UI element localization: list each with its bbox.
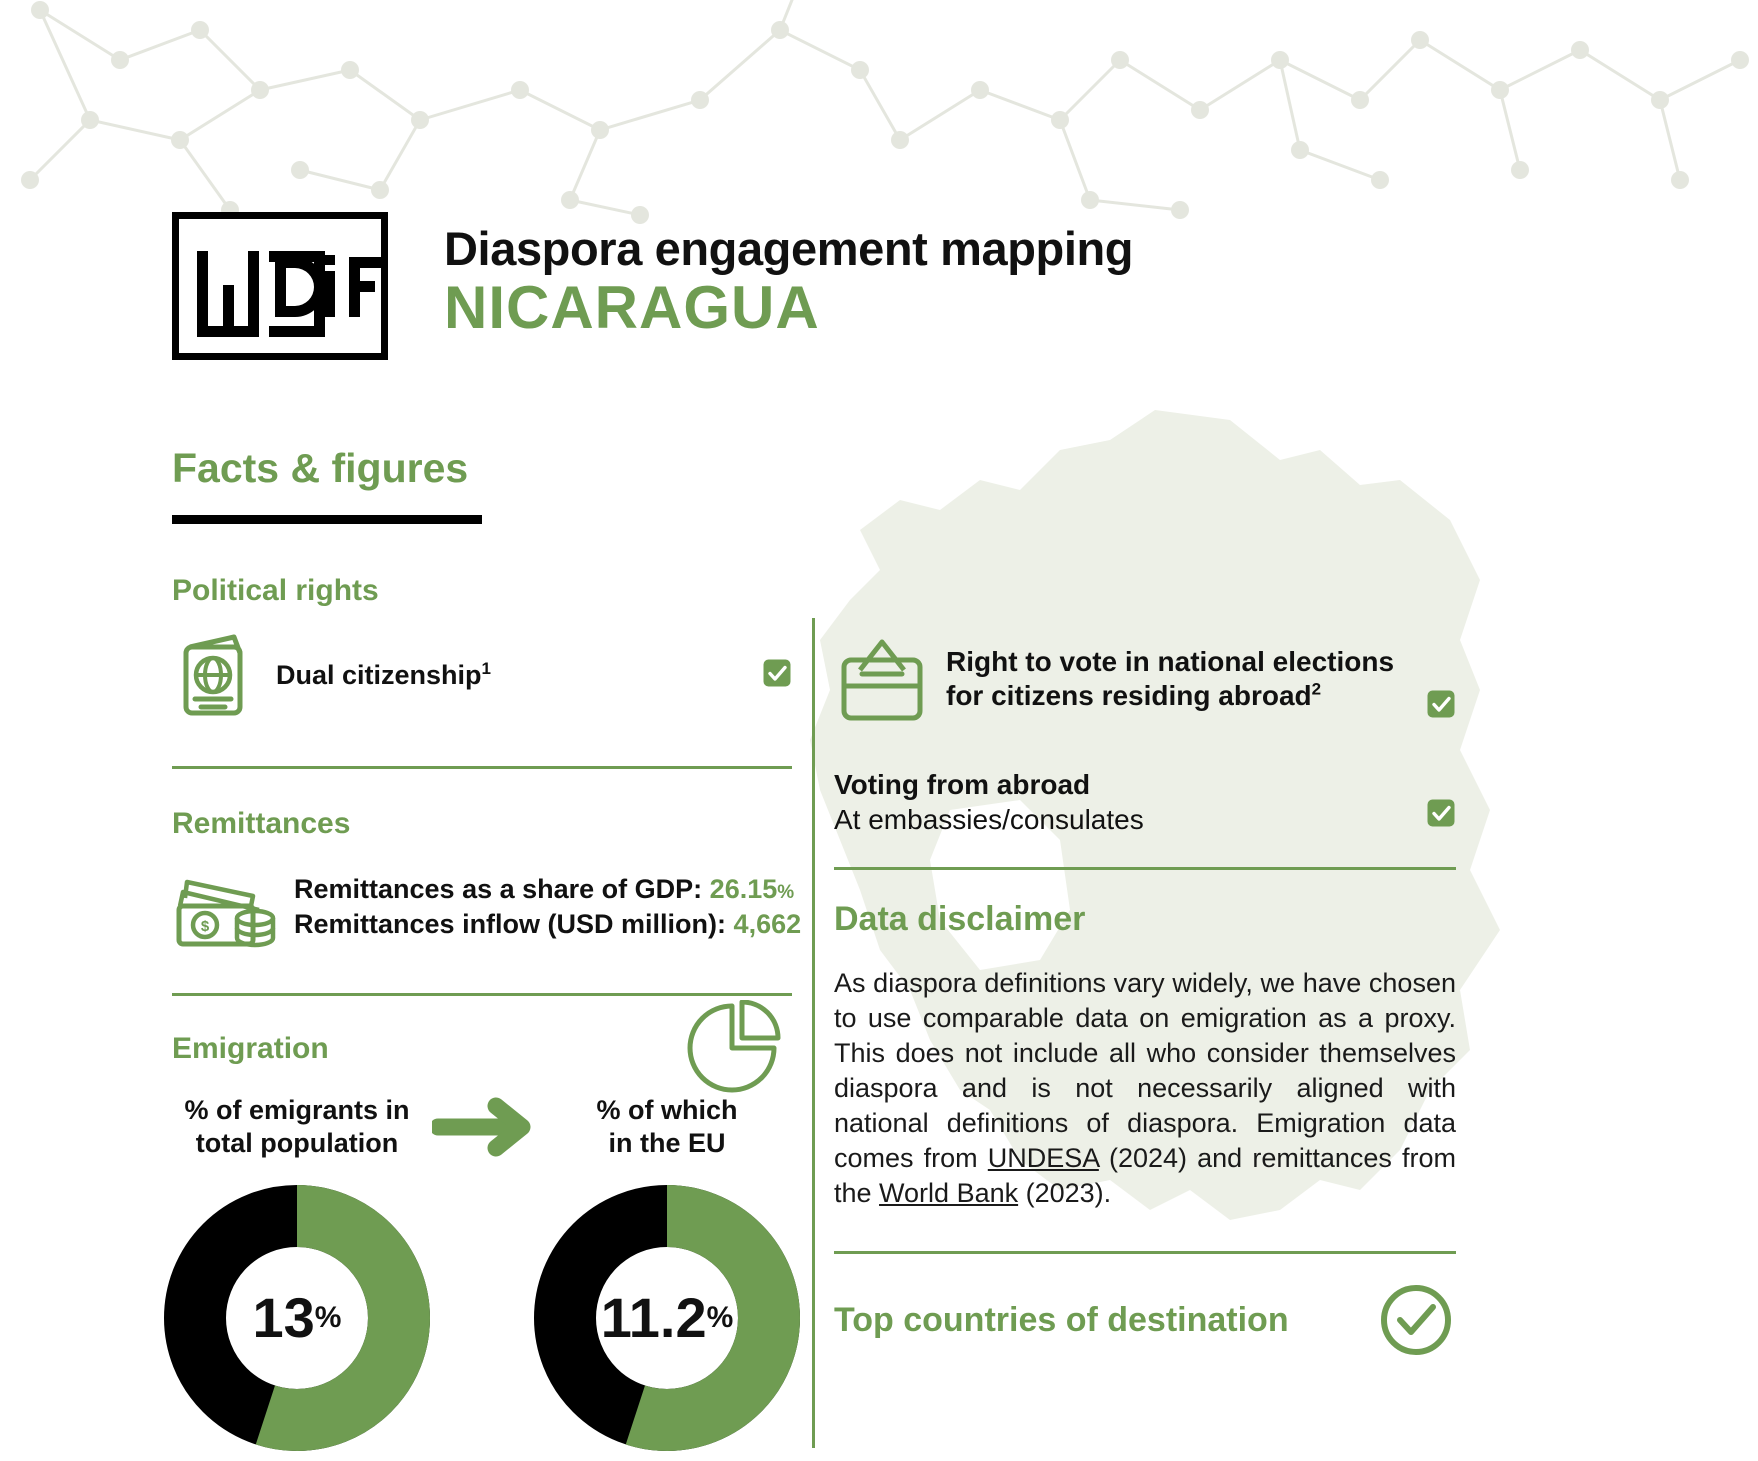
emigration-caption-left-line2: total population (172, 1127, 422, 1160)
left-column: Facts & figures Political rights (172, 448, 792, 1452)
infographic-page: Diaspora engagement mapping NICARAGUA Fa… (0, 0, 1758, 1461)
disclaimer-source-link[interactable]: World Bank (879, 1178, 1018, 1208)
voting-from-abroad-text: Voting from abroad At embassies/consulat… (834, 768, 1426, 837)
column-divider (812, 618, 815, 1448)
facts-figures-heading: Facts & figures (172, 448, 792, 489)
eudif-logo (172, 212, 388, 360)
arrow-right-icon (432, 1097, 532, 1157)
voting-from-abroad-value: At embassies/consulates (834, 802, 1426, 837)
money-icon: $ (175, 864, 279, 950)
donut-chart-2-value: 11.2 (601, 1285, 707, 1350)
remittances-inflow-value: 4,662 (734, 909, 802, 939)
header-text-block: Diaspora engagement mapping NICARAGUA (444, 212, 1133, 341)
political-rights-heading: Political rights (172, 576, 792, 606)
data-disclaimer-heading: Data disclaimer (834, 902, 1456, 936)
right-to-vote-row: Right to vote in national elections for … (834, 630, 1456, 728)
right-to-vote-line2: for citizens residing abroad (946, 680, 1312, 711)
checked-checkbox-icon (1426, 689, 1456, 719)
ballot-box-icon (838, 634, 926, 724)
data-disclaimer-block: Data disclaimer As diaspora definitions … (834, 902, 1456, 1212)
remittances-row: $ Remittances as a share of GDP: 26.15% … (172, 861, 792, 953)
voting-from-abroad-checkbox[interactable] (1426, 798, 1456, 833)
right-to-vote-label: Right to vote in national elections for … (946, 645, 1426, 712)
emigration-caption-right: % of which in the EU (542, 1094, 792, 1160)
disclaimer-source-link[interactable]: UNDESA (988, 1143, 1099, 1173)
divider-after-voting (834, 867, 1456, 870)
country-name: NICARAGUA (444, 276, 1133, 341)
page-header: Diaspora engagement mapping NICARAGUA (172, 212, 1133, 360)
dual-citizenship-text: Dual citizenship (276, 660, 482, 690)
dual-citizenship-footnote: 1 (482, 659, 491, 678)
right-to-vote-line2-wrap: for citizens residing abroad2 (946, 679, 1426, 713)
remittances-gdp-label: Remittances as a share of GDP: (294, 874, 702, 904)
donut-chart-emigrants-total: 13% (163, 1184, 431, 1452)
pie-chart-icon (684, 1000, 784, 1096)
voting-from-abroad-title: Voting from abroad (834, 768, 1426, 802)
top-countries-row: Top countries of destination (834, 1280, 1456, 1360)
divider-after-disclaimer (834, 1251, 1456, 1254)
donut-chart-1-center-label: 13% (163, 1184, 431, 1452)
top-countries-heading: Top countries of destination (834, 1301, 1376, 1340)
remittances-gdp-unit: % (777, 882, 794, 903)
checked-checkbox-icon (1426, 798, 1456, 828)
check-circle-icon (1376, 1280, 1456, 1360)
emigration-arrow-slot (422, 1097, 542, 1157)
dual-citizenship-row: Dual citizenship1 (172, 630, 792, 720)
emigration-donuts-row: 13% 11.2% (172, 1184, 792, 1452)
divider-after-remittances (172, 993, 792, 996)
dual-citizenship-checkbox[interactable] (762, 658, 792, 693)
emigration-caption-right-line2: in the EU (542, 1127, 792, 1160)
emigration-block: Emigration % of emigrants in total popul… (172, 1034, 792, 1452)
right-to-vote-line1: Right to vote in national elections (946, 645, 1426, 679)
political-rights-block: Political rights Dual citizenship1 (172, 576, 792, 720)
divider-after-political-rights (172, 766, 792, 769)
donut-chart-1-unit: % (315, 1301, 342, 1335)
eudif-logo-mark (179, 219, 381, 353)
emigration-caption-left-line1: % of emigrants in (172, 1094, 422, 1127)
remittances-inflow-label: Remittances inflow (USD million): (294, 909, 726, 939)
emigration-caption-right-line1: % of which (542, 1094, 792, 1127)
remittances-heading: Remittances (172, 809, 792, 839)
emigration-captions-row: % of emigrants in total population % of … (172, 1094, 792, 1160)
donut-chart-eu-share: 11.2% (533, 1184, 801, 1452)
emigration-caption-left: % of emigrants in total population (172, 1094, 422, 1160)
molecule-pattern-decoration (0, 0, 1758, 230)
passport-icon (180, 633, 250, 717)
donut-chart-1-value: 13 (253, 1285, 315, 1350)
remittances-block: Remittances $ Rem (172, 809, 792, 953)
data-disclaimer-text: As diaspora definitions vary widely, we … (834, 966, 1456, 1212)
right-column: Right to vote in national elections for … (834, 630, 1456, 1360)
right-to-vote-footnote: 2 (1312, 680, 1321, 699)
remittances-stats: Remittances as a share of GDP: 26.15% Re… (294, 872, 801, 942)
checked-checkbox-icon (762, 658, 792, 688)
remittances-gdp-value: 26.15 (710, 874, 778, 904)
remittances-gdp-line: Remittances as a share of GDP: 26.15% (294, 872, 801, 907)
donut-chart-2-center-label: 11.2% (533, 1184, 801, 1452)
donut-chart-2-unit: % (707, 1301, 734, 1335)
right-to-vote-checkbox[interactable] (1426, 689, 1456, 724)
svg-text:$: $ (201, 918, 210, 935)
remittances-inflow-line: Remittances inflow (USD million): 4,662 (294, 907, 801, 942)
voting-from-abroad-row: Voting from abroad At embassies/consulat… (834, 768, 1456, 837)
page-title: Diaspora engagement mapping (444, 224, 1133, 274)
facts-figures-underline (172, 515, 482, 524)
disclaimer-text-span: (2023). (1018, 1178, 1111, 1208)
dual-citizenship-label: Dual citizenship1 (276, 659, 762, 692)
